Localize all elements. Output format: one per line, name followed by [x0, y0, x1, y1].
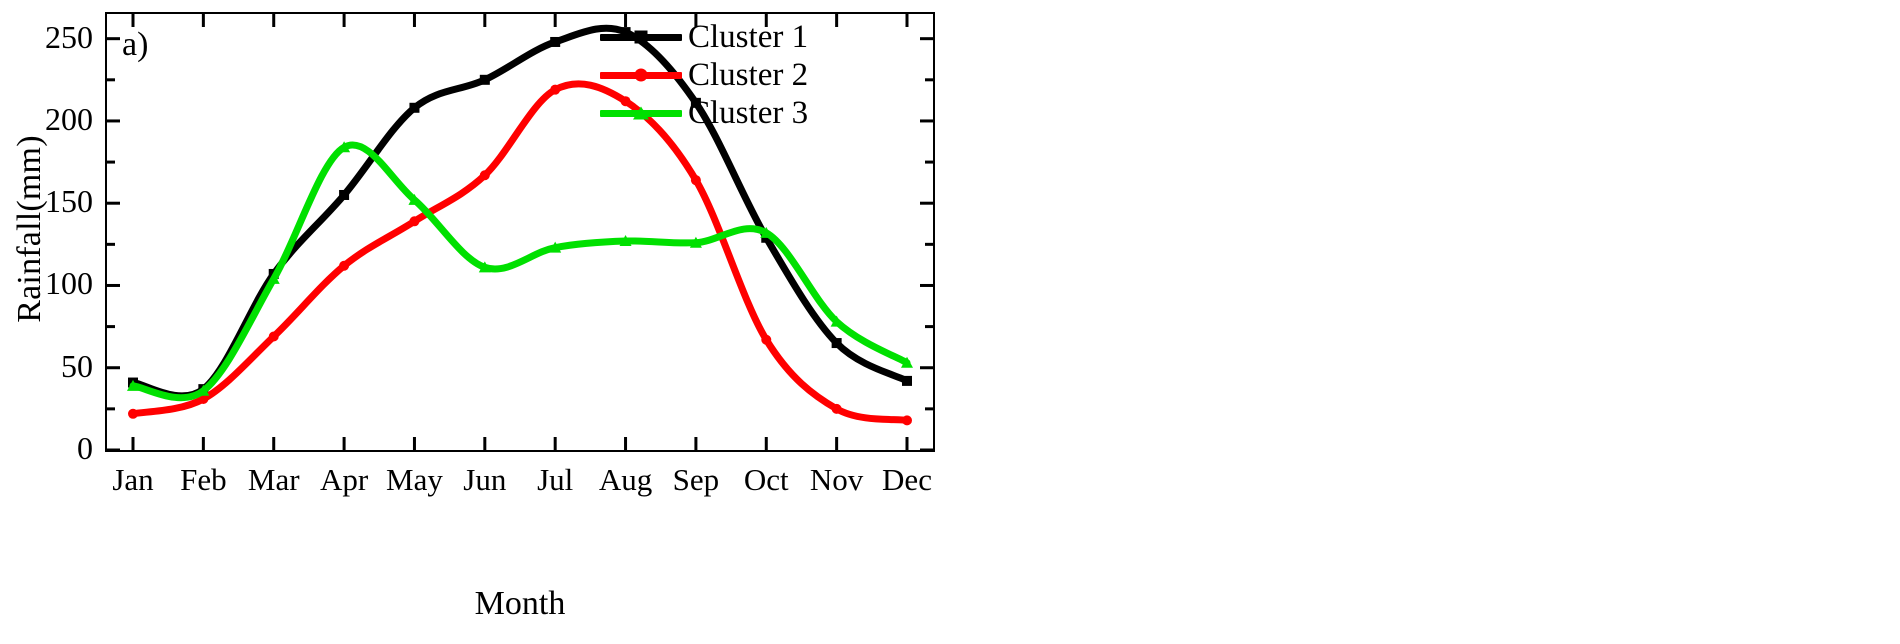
- panel-a-plot-area: [107, 14, 933, 450]
- y-tick-label: 0: [13, 432, 93, 464]
- series-cluster-3: [127, 141, 913, 397]
- legend-item-2[interactable]: Cluster 2: [600, 56, 808, 94]
- y-tick-label: 250: [13, 21, 93, 53]
- legend-line-swatch: [600, 34, 682, 41]
- figure-root: Rainfall(mm) 250200150100500 JanFebMarAp…: [0, 0, 1900, 644]
- x-tick-label: Dec: [862, 464, 952, 495]
- legend-marker-square-icon: [635, 31, 648, 44]
- legend-marker-triangle-icon: [633, 107, 649, 120]
- y-tick-label: 200: [13, 103, 93, 135]
- panel-a-y-axis-label: Rainfall(mm): [11, 104, 49, 354]
- panel-a-legend: Cluster 1Cluster 2Cluster 3: [600, 18, 808, 132]
- legend-line-swatch: [600, 72, 682, 79]
- legend-item-3[interactable]: Cluster 3: [600, 94, 808, 132]
- panel-a-x-axis-label: Month: [105, 585, 935, 623]
- y-tick-label: 150: [13, 185, 93, 217]
- legend-label: Cluster 1: [688, 19, 808, 56]
- legend-line-swatch: [600, 110, 682, 117]
- legend-item-1[interactable]: Cluster 1: [600, 18, 808, 56]
- panel-a: Rainfall(mm) 250200150100500 JanFebMarAp…: [0, 0, 950, 644]
- panel-a-letter: a): [122, 26, 148, 64]
- panel-a-series-svg: [107, 14, 933, 450]
- legend-label: Cluster 3: [688, 95, 808, 132]
- y-tick-label: 50: [13, 350, 93, 382]
- y-tick-label: 100: [13, 267, 93, 299]
- panel-b: Temperature(°C) 323028262422201816141210…: [950, 0, 1900, 644]
- legend-label: Cluster 2: [688, 57, 808, 94]
- series-cluster-2: [128, 84, 912, 426]
- panel-a-plot-frame: [105, 12, 935, 452]
- legend-marker-circle-icon: [635, 69, 648, 82]
